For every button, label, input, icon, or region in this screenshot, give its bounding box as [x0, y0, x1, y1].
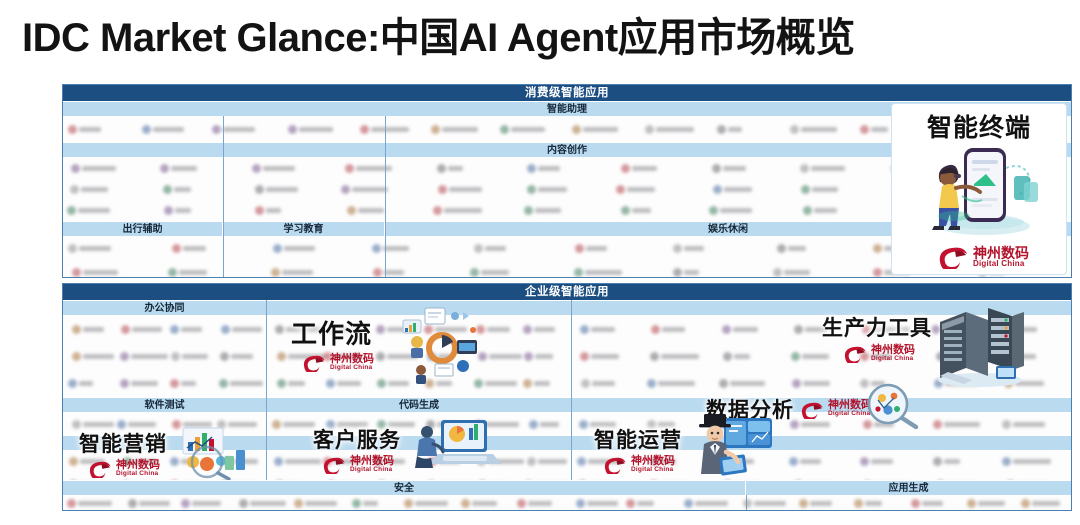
vendor-logo-wordmark — [79, 246, 111, 251]
vendor-logo-wordmark — [538, 187, 567, 192]
vendor-logo-wordmark — [814, 208, 838, 213]
vendor-logo-wordmark — [472, 501, 497, 506]
vendor-logo-wordmark — [978, 501, 1005, 506]
logo-strip-office-collab — [63, 315, 266, 397]
vendor-logo — [684, 498, 742, 509]
vendor-logo-wordmark — [538, 166, 560, 171]
vendor-logo — [431, 124, 467, 135]
vendor-logo — [854, 498, 883, 509]
subsection-header-code-generation: 代码生成 — [267, 397, 571, 412]
vendor-logo-wordmark — [871, 127, 888, 132]
subsection-header-software-testing: 软件测试 — [63, 397, 266, 412]
vendor-logo-mark — [581, 379, 590, 388]
vendor-logo — [404, 498, 453, 509]
vendor-logo-wordmark — [250, 501, 286, 506]
vendor-logo-wordmark — [442, 127, 478, 132]
vendor-logo-wordmark — [139, 501, 171, 506]
consumer-section-header: 消费级智能应用 — [63, 85, 1071, 101]
vendor-logo-mark — [345, 164, 354, 173]
vendor-logo-mark — [326, 379, 335, 388]
vendor-logo-mark — [437, 164, 446, 173]
vendor-logo-mark — [72, 352, 81, 361]
vendor-logo-mark — [523, 325, 532, 334]
vendor-logo-wordmark — [871, 459, 893, 464]
vendor-logo-mark — [433, 206, 442, 215]
workflow-collage-illustration — [395, 306, 485, 386]
vendor-logo-wordmark — [232, 327, 261, 332]
enterprise-column-divider-1 — [266, 300, 267, 480]
vendor-logo — [272, 419, 299, 430]
vendor-logo-mark — [72, 268, 81, 277]
vendor-logo-mark — [67, 499, 76, 508]
callout-productivity-tools: 生产力工具 神州数码 Digital China — [822, 312, 932, 363]
vendor-logo — [255, 205, 296, 216]
vendor-logo-wordmark — [586, 246, 607, 251]
vendor-logo — [789, 456, 836, 467]
vendor-logo-wordmark — [181, 327, 201, 332]
vendor-logo-wordmark — [592, 381, 615, 386]
page-title: IDC Market Glance:中国AI Agent应用市场概览 — [22, 12, 855, 64]
vendor-logo — [803, 205, 852, 216]
subsection-header-travel: 出行辅助 — [63, 221, 223, 236]
vendor-logo-wordmark — [371, 127, 408, 132]
vendor-logo — [743, 498, 774, 509]
vendor-logo-wordmark — [83, 327, 104, 332]
person-laptop-dashboard-illustration — [413, 416, 509, 478]
vendor-logo — [142, 124, 170, 135]
vendor-logo-mark — [68, 125, 77, 134]
vendor-logo-mark — [803, 206, 812, 215]
slide-canvas: IDC Market Glance:中国AI Agent应用市场概览 消费级智能… — [0, 0, 1080, 525]
vendor-logo-mark — [527, 164, 536, 173]
vendor-logo-mark — [673, 268, 682, 277]
vendor-logo-mark — [239, 499, 248, 508]
vendor-logo-mark — [170, 325, 179, 334]
vendor-logo-mark — [792, 379, 801, 388]
vendor-logo-mark — [574, 268, 583, 277]
vendor-logo — [373, 267, 411, 278]
vendor-logo-mark — [171, 352, 180, 361]
vendor-logo — [650, 351, 702, 362]
callout-label-customer-service: 客户服务 — [313, 424, 401, 454]
vendor-logo-mark — [341, 185, 350, 194]
callout-smart-marketing: 智能营销 神州数码 Digital China — [79, 428, 167, 478]
vendor-logo — [288, 124, 329, 135]
vendor-logo-mark — [274, 457, 283, 466]
vendor-logo-wordmark — [174, 187, 190, 192]
vendor-logo-mark — [524, 206, 533, 215]
vendor-logo-wordmark — [528, 501, 552, 506]
vendor-logo-wordmark — [363, 501, 378, 506]
vendor-logo — [673, 267, 717, 278]
vendor-logo-mark — [474, 244, 483, 253]
vendor-logo — [773, 267, 827, 278]
vendor-logo — [967, 498, 1025, 509]
vendor-logo — [239, 498, 287, 509]
vendor-logo — [474, 243, 507, 254]
vendor-logo — [621, 163, 674, 174]
vendor-logo-mark — [709, 206, 718, 215]
vendor-logo-wordmark — [733, 327, 758, 332]
vendor-logo-wordmark — [131, 354, 168, 359]
vendor-logo-wordmark — [627, 187, 655, 192]
vendor-logo-mark — [255, 206, 264, 215]
vendor-logo-wordmark — [801, 127, 837, 132]
digital-china-swirl-icon — [936, 244, 970, 269]
vendor-logo-wordmark — [83, 422, 114, 427]
vendor-logo-mark — [789, 457, 798, 466]
vendor-logo-mark — [377, 379, 386, 388]
vendor-logo-wordmark — [724, 187, 752, 192]
vendor-logo-wordmark — [591, 327, 615, 332]
vendor-logo — [500, 124, 553, 135]
vendor-logo-mark — [121, 325, 130, 334]
vendor-logo-mark — [120, 379, 129, 388]
vendor-logo-wordmark — [723, 166, 746, 171]
vendor-logo — [438, 184, 494, 195]
vendor-logo-mark — [527, 185, 536, 194]
digital-china-swirl-icon — [799, 400, 825, 419]
subsection-header-app-generation: 应用生成 — [746, 480, 1071, 495]
vendor-logo — [717, 124, 762, 135]
vendor-logo-mark — [575, 244, 584, 253]
vendor-logo — [67, 205, 121, 216]
vendor-logo — [71, 163, 103, 174]
vendor-logo-mark — [790, 125, 799, 134]
vendor-logo — [274, 456, 302, 467]
vendor-logo-wordmark — [223, 127, 255, 132]
vendor-logo-wordmark — [192, 501, 221, 506]
vendor-logo-wordmark — [449, 187, 482, 192]
vendor-logo — [160, 163, 198, 174]
vendor-logo-mark — [160, 164, 169, 173]
marketing-chart-magnifier-illustration — [163, 426, 267, 480]
vendor-logo-wordmark — [784, 270, 810, 275]
vendor-logo-mark — [860, 125, 869, 134]
vendor-logo-mark — [801, 185, 810, 194]
vendor-logo-wordmark — [485, 246, 507, 251]
digital-china-swirl-icon — [87, 459, 113, 478]
vendor-logo-mark — [255, 185, 264, 194]
vendor-logo — [527, 456, 559, 467]
vendor-logo — [461, 498, 489, 509]
logo-strip-bottom — [63, 495, 1071, 511]
vendor-logo-wordmark — [282, 270, 313, 275]
digital-china-swirl-icon — [301, 353, 327, 372]
vendor-logo-wordmark — [662, 327, 684, 332]
vendor-logo — [121, 324, 176, 335]
vendor-logo-mark — [773, 268, 782, 277]
vendor-logo — [1021, 498, 1072, 509]
vendor-logo — [673, 243, 719, 254]
brand-name-cn: 神州数码 — [973, 246, 1029, 260]
vendor-logo-wordmark — [181, 381, 196, 386]
callout-label-workflow: 工作流 — [291, 314, 372, 351]
vendor-logo — [347, 205, 395, 216]
vendor-logo — [801, 184, 851, 195]
vendor-logo — [722, 324, 773, 335]
vendor-logo-wordmark — [356, 166, 392, 171]
vendor-logo — [326, 378, 379, 389]
vendor-logo-wordmark — [585, 270, 622, 275]
vendor-logo-wordmark — [78, 208, 110, 213]
vendor-logo — [470, 267, 520, 278]
digital-china-swirl-icon — [842, 344, 868, 363]
vendor-logo — [163, 184, 207, 195]
vendor-logo — [651, 324, 705, 335]
vendor-logo — [574, 267, 608, 278]
callout-workflow: 工作流 神州数码 Digital China — [291, 314, 374, 372]
vendor-logo-mark — [517, 499, 526, 508]
vendor-logo — [616, 184, 655, 195]
vendor-logo — [524, 351, 577, 362]
vendor-logo — [524, 205, 574, 216]
vendor-logo-wordmark — [632, 208, 651, 213]
vendor-logo — [181, 498, 219, 509]
vendor-logo-wordmark — [78, 501, 112, 506]
vendor-logo — [1002, 456, 1050, 467]
vendor-logo — [800, 163, 848, 174]
vendor-logo-mark — [572, 125, 581, 134]
vendor-logo — [933, 456, 988, 467]
vendor-logo-mark — [777, 244, 786, 253]
vendor-logo-mark — [168, 268, 177, 277]
vendor-logo-wordmark — [540, 422, 559, 427]
vendor-logo-wordmark — [448, 166, 463, 171]
brand-name-en: Digital China — [330, 365, 374, 372]
vendor-logo-wordmark — [487, 327, 510, 332]
callout-label-productivity-tools: 生产力工具 — [822, 312, 932, 342]
vendor-logo-wordmark — [810, 501, 832, 506]
vendor-logo-mark — [1021, 499, 1030, 508]
vendor-logo — [575, 243, 619, 254]
vendor-logo — [220, 351, 265, 362]
column-divider-2 — [385, 116, 386, 277]
vendor-logo-wordmark — [587, 501, 618, 506]
vendor-logo-mark — [529, 420, 538, 429]
vendor-logo-mark — [271, 268, 280, 277]
vendor-logo-mark — [577, 457, 586, 466]
vendor-logo — [72, 351, 101, 362]
vendor-logo-mark — [67, 206, 76, 215]
vendor-logo-mark — [722, 325, 731, 334]
vendor-logo-mark — [873, 244, 882, 253]
vendor-logo-mark — [800, 164, 809, 173]
vendor-logo-mark — [799, 499, 808, 508]
vendor-logo-wordmark — [337, 381, 362, 386]
vendor-logo-mark — [523, 379, 532, 388]
vendor-logo — [170, 324, 212, 335]
vendor-logo — [581, 378, 608, 389]
vendor-logo — [580, 324, 616, 335]
vendor-logo-mark — [616, 185, 625, 194]
vendor-logo — [164, 205, 201, 216]
vendor-logo-wordmark — [131, 381, 158, 386]
vendor-logo-mark — [220, 352, 229, 361]
vendor-logo-mark — [967, 499, 976, 508]
vendor-logo-wordmark — [1013, 459, 1050, 464]
vendor-logo-mark — [860, 457, 869, 466]
vendor-logo-mark — [647, 379, 656, 388]
vendor-logo — [1002, 419, 1029, 430]
vendor-logo-wordmark — [481, 270, 509, 275]
vendor-logo — [252, 163, 299, 174]
vendor-logo-wordmark — [82, 166, 116, 171]
vendor-logo-mark — [684, 499, 693, 508]
vendor-logo — [273, 243, 328, 254]
vendor-logo-wordmark — [83, 354, 114, 359]
vendor-logo — [437, 163, 469, 174]
vendor-logo-mark — [1002, 457, 1011, 466]
vendor-logo-wordmark — [661, 354, 699, 359]
vendor-logo-wordmark — [637, 501, 654, 506]
vendor-logo-mark — [791, 352, 800, 361]
brand-name-en: Digital China — [116, 471, 160, 478]
vendor-logo-wordmark — [865, 501, 882, 506]
vendor-logo-wordmark — [183, 246, 206, 251]
vendor-logo-wordmark — [266, 208, 281, 213]
enterprise-right-column: · · · 生产力工具 神州数码 Digital Chin — [572, 300, 1071, 480]
vendor-logo-mark — [645, 125, 654, 134]
vendor-logo — [712, 163, 767, 174]
vendor-logo-mark — [128, 499, 137, 508]
vendor-logo — [527, 163, 578, 174]
enterprise-grid: 办公协同 软件测试 · 智能营销 神州数码 Digital — [63, 300, 1071, 480]
vendor-logo-mark — [579, 420, 588, 429]
vendor-logo-mark — [181, 499, 190, 508]
vendor-logo-wordmark — [284, 246, 316, 251]
vendor-logo-wordmark — [1032, 501, 1061, 506]
vendor-logo-wordmark — [800, 459, 820, 464]
vendor-logo-wordmark — [538, 459, 567, 464]
vendor-logo-wordmark — [128, 422, 156, 427]
vendor-logo — [345, 163, 382, 174]
vendor-logo-mark — [713, 185, 722, 194]
vendor-logo-mark — [621, 206, 630, 215]
brand-name-en: Digital China — [871, 356, 915, 363]
vendor-logo-mark — [873, 268, 882, 277]
vendor-logo-wordmark — [583, 127, 619, 132]
vendor-logo-wordmark — [754, 501, 787, 506]
brand-logo-workflow: 神州数码 Digital China — [301, 353, 374, 372]
vendor-logo-mark — [576, 499, 585, 508]
vendor-logo-wordmark — [728, 127, 742, 132]
vendor-logo-wordmark — [734, 354, 750, 359]
vendor-logo-mark — [72, 325, 81, 334]
vendor-logo-wordmark — [263, 166, 295, 171]
vendor-logo-mark — [273, 244, 282, 253]
vendor-logo-wordmark — [230, 381, 263, 386]
digital-china-swirl-icon — [321, 455, 347, 474]
vendor-logo-mark — [854, 499, 863, 508]
vendor-logo-wordmark — [720, 208, 752, 213]
enterprise-section: 企业级智能应用 办公协同 软件测试 · 智能营销 — [62, 283, 1072, 511]
vendor-logo-mark — [277, 379, 286, 388]
vendor-logo-mark — [252, 164, 261, 173]
enterprise-middle-column: · 代码生成 · 工作流 神州数码 Digital Chi — [267, 300, 571, 480]
subsection-header-security: 安全 — [63, 480, 746, 495]
woman-with-smartphone-illustration — [906, 138, 1056, 238]
character-top-hat-dashboard-illustration — [690, 412, 780, 478]
vendor-logo-mark — [172, 244, 181, 253]
vendor-logo-mark — [68, 244, 77, 253]
vendor-logo — [580, 351, 624, 362]
vendor-logo-wordmark — [305, 501, 337, 506]
enterprise-bottom-headers: 安全 应用生成 — [63, 480, 1071, 495]
vendor-logo-wordmark — [944, 459, 961, 464]
vendor-logo-wordmark — [171, 166, 197, 171]
vendor-logo — [523, 378, 554, 389]
vendor-logo — [68, 378, 122, 389]
vendor-logo — [576, 498, 621, 509]
vendor-logo-wordmark — [591, 354, 619, 359]
server-racks-illustration — [926, 304, 1030, 388]
vendor-logo-mark — [580, 325, 589, 334]
vendor-logo — [67, 498, 118, 509]
vendor-logo — [352, 498, 378, 509]
vendor-logo-mark — [212, 125, 221, 134]
vendor-logo-wordmark — [153, 127, 184, 132]
vendor-logo-mark — [717, 125, 726, 134]
vendor-logo-wordmark — [534, 381, 550, 386]
enterprise-column-divider-2 — [571, 300, 572, 480]
magnifier-data-illustration — [862, 382, 924, 430]
vendor-logo-mark — [219, 379, 228, 388]
vendor-logo-wordmark — [803, 381, 830, 386]
brand-logo-smart-operations: 神州数码 Digital China — [602, 455, 675, 474]
brand-logo-productivity-tools: 神州数码 Digital China — [842, 344, 915, 363]
vendor-logo-mark — [621, 164, 630, 173]
vendor-logo-mark — [650, 352, 659, 361]
vendor-logo-mark — [373, 268, 382, 277]
vendor-logo — [168, 267, 223, 278]
subsection-header-office-collab: 办公协同 — [63, 300, 266, 315]
vendor-logo-mark — [933, 457, 942, 466]
vendor-logo-wordmark — [182, 354, 208, 359]
vendor-logo-mark — [933, 420, 942, 429]
callout-customer-service: 客户服务 神州数码 Digital China — [313, 424, 401, 474]
vendor-logo-mark — [911, 499, 920, 508]
vendor-logo — [777, 243, 831, 254]
callout-smart-terminal: 智能终端 — [891, 103, 1067, 275]
vendor-logo-mark — [376, 325, 385, 334]
vendor-logo-wordmark — [179, 270, 207, 275]
vendor-logo — [172, 243, 211, 254]
vendor-logo-mark — [294, 499, 303, 508]
vendor-logo-mark — [376, 352, 385, 361]
vendor-logo-mark — [120, 352, 129, 361]
vendor-logo-mark — [461, 499, 470, 508]
vendor-logo — [171, 351, 203, 362]
vendor-logo-wordmark — [175, 208, 192, 213]
callout-label-smart-marketing: 智能营销 — [79, 428, 167, 458]
vendor-logo-mark — [288, 125, 297, 134]
vendor-logo — [527, 184, 584, 195]
vendor-logo-mark — [712, 164, 721, 173]
vendor-logo-mark — [500, 125, 509, 134]
vendor-logo — [120, 351, 172, 362]
vendor-logo — [70, 184, 104, 195]
brand-logo-smart-terminal: 神州数码 Digital China — [936, 244, 1029, 269]
vendor-logo — [128, 498, 174, 509]
vendor-logo-wordmark — [79, 127, 100, 132]
vendor-logo-wordmark — [231, 354, 253, 359]
vendor-logo-wordmark — [132, 327, 162, 332]
vendor-logo-wordmark — [511, 127, 545, 132]
vendor-logo-mark — [794, 325, 803, 334]
vendor-logo — [647, 378, 690, 389]
vendor-logo-wordmark — [81, 187, 108, 192]
